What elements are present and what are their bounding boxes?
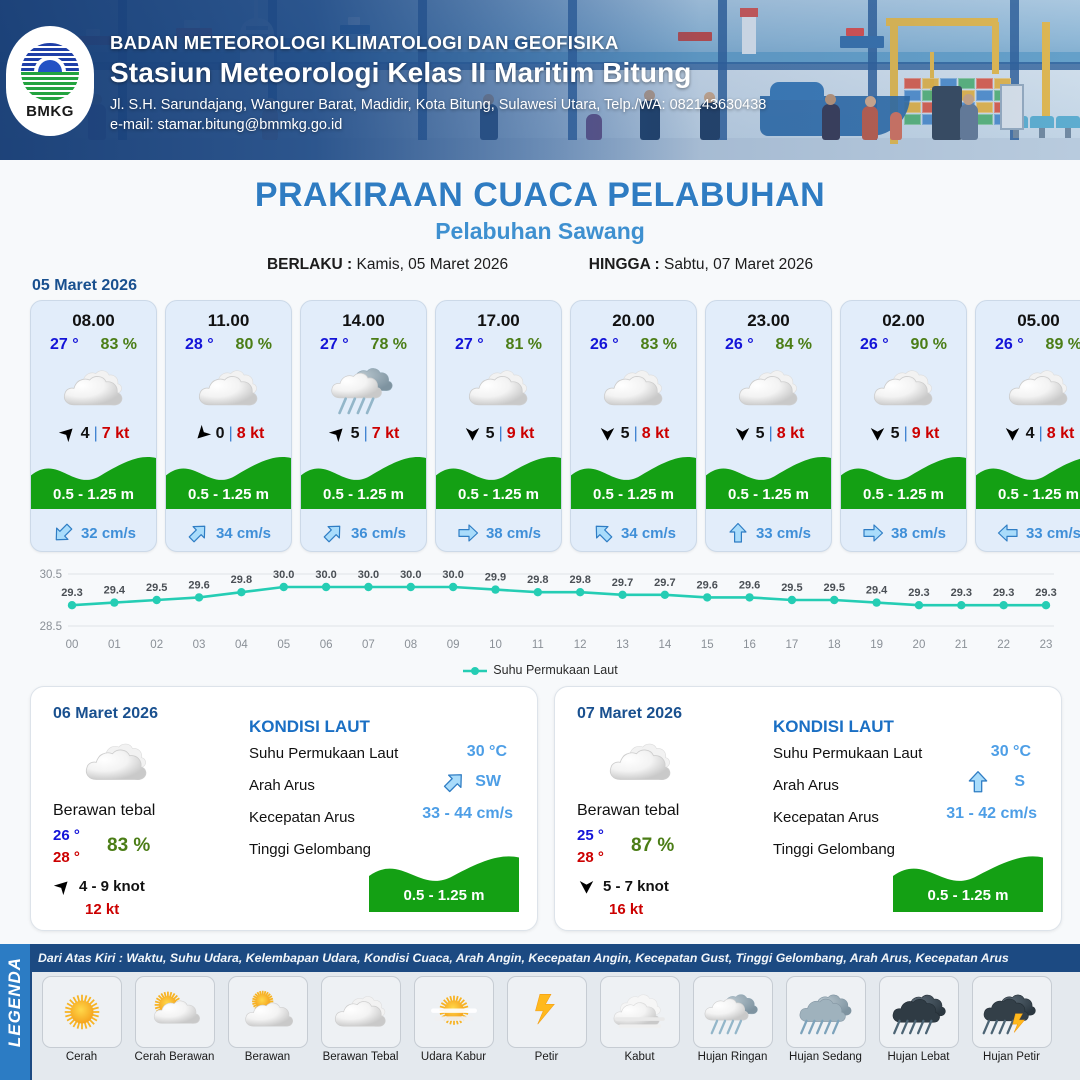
chart-x-tick: 23: [1040, 639, 1053, 651]
chart-y-tick: 28.5: [40, 621, 62, 633]
card-values: 27 °78 %: [301, 336, 426, 354]
panel-wave-band: 0.5 - 1.25 m: [369, 850, 519, 912]
chart-point-label: 29.7: [654, 577, 675, 589]
chart-x-tick: 01: [108, 639, 121, 651]
chart-point-label: 29.5: [146, 582, 167, 594]
card-values: 26 °83 %: [571, 336, 696, 354]
card-current-speed: 33 cm/s: [1026, 525, 1080, 542]
wind-direction-arrow-icon: [733, 424, 752, 443]
card-humidity: 81 %: [506, 336, 542, 354]
card-values: 26 °89 %: [976, 336, 1080, 354]
chart-data-point: [534, 588, 542, 596]
valid-from-label: BERLAKU :: [267, 256, 352, 273]
chart-point-label: 29.9: [485, 572, 506, 584]
chart-data-point: [491, 585, 499, 593]
card-wind-speed: 0: [216, 425, 225, 443]
card-wave-height: 0.5 - 1.25 m: [706, 486, 831, 503]
legend-item: Hujan Lebat: [875, 976, 962, 1063]
card-values: 26 °84 %: [706, 336, 831, 354]
card-separator: |: [364, 425, 368, 443]
chart-point-label: 29.5: [824, 582, 845, 594]
current-direction-arrow-icon: [726, 521, 750, 545]
panel-row-value: 30 °C: [467, 743, 507, 761]
card-wind: 4|7 kt: [31, 424, 156, 443]
card-wave-height: 0.5 - 1.25 m: [436, 486, 561, 503]
card-wave-band: 0.5 - 1.25 m: [301, 451, 426, 509]
chart-point-label: 30.0: [442, 569, 463, 581]
legend-icon-berawan-icon: [228, 976, 308, 1048]
chart-data-point: [1042, 601, 1050, 609]
chart-x-tick: 15: [701, 639, 714, 651]
chart-point-label: 30.0: [400, 569, 421, 581]
panel-condition: Berawan tebal: [577, 802, 679, 820]
card-current: 33 cm/s: [706, 521, 831, 545]
panel-weather-icon-berawan-tebal: [603, 735, 679, 795]
legend-icon-berawan-tebal-icon: [321, 976, 401, 1048]
legend-item-label: Hujan Sedang: [789, 1051, 862, 1063]
panel-sea-title: KONDISI LAUT: [249, 717, 370, 737]
legend-item-label: Udara Kabur: [421, 1051, 486, 1063]
forecast-day-label: 05 Maret 2026: [32, 277, 137, 295]
legend-icon-list: CerahCerah BerawanBerawanBerawan TebalUd…: [38, 976, 1055, 1063]
legend-icon-udara-kabur-icon: [414, 976, 494, 1048]
card-current-speed: 36 cm/s: [351, 525, 406, 542]
card-wave-band: 0.5 - 1.25 m: [706, 451, 831, 509]
panel-sea-title: KONDISI LAUT: [773, 717, 894, 737]
chart-data-point: [661, 591, 669, 599]
card-gust: 8 kt: [642, 425, 670, 443]
legend-icon-cerah-berawan-icon: [135, 976, 215, 1048]
legend-section: LEGENDA Dari Atas Kiri : Waktu, Suhu Uda…: [0, 944, 1080, 1080]
panel-row-label: Suhu Permukaan Laut: [773, 745, 922, 762]
chart-x-tick: 16: [743, 639, 756, 651]
page-subtitle: Pelabuhan Sawang: [0, 218, 1080, 245]
card-wind: 4|8 kt: [976, 424, 1080, 443]
chart-point-label: 29.3: [908, 587, 929, 599]
card-wind: 5|8 kt: [571, 424, 696, 443]
wind-direction-arrow-icon: [328, 424, 347, 443]
wind-direction-arrow-icon: [868, 424, 887, 443]
chart-point-label: 30.0: [273, 569, 294, 581]
card-weather-icon-hujan-ringan: [301, 360, 426, 416]
card-temperature: 26 °: [725, 336, 754, 354]
card-wave-band: 0.5 - 1.25 m: [841, 451, 966, 509]
card-wave-height: 0.5 - 1.25 m: [301, 486, 426, 503]
panel-current-direction-arrow-icon: [441, 769, 467, 800]
card-values: 27 °83 %: [31, 336, 156, 354]
card-gust: 8 kt: [237, 425, 265, 443]
card-time: 08.00: [31, 311, 156, 331]
card-wind: 5|9 kt: [841, 424, 966, 443]
forecast-card: 08.0027 °83 %4|7 kt0.5 - 1.25 m32 cm/s: [30, 300, 157, 552]
chart-point-label: 29.7: [612, 577, 633, 589]
chart-x-tick: 11: [532, 639, 544, 651]
card-separator: |: [229, 425, 233, 443]
bmkg-logo: BMKG: [6, 26, 94, 136]
wind-direction-arrow-icon: [193, 424, 212, 443]
chart-data-point: [237, 588, 245, 596]
panel-date: 06 Maret 2026: [53, 705, 158, 723]
header-text-block: BADAN METEOROLOGI KLIMATOLOGI DAN GEOFIS…: [110, 32, 766, 133]
card-values: 28 °80 %: [166, 336, 291, 354]
legend-item: Hujan Sedang: [782, 976, 869, 1063]
chart-point-label: 29.5: [781, 582, 802, 594]
legend-icon-kabut-icon: [600, 976, 680, 1048]
card-time: 11.00: [166, 311, 291, 331]
card-current: 38 cm/s: [841, 521, 966, 545]
chart-data-point: [407, 583, 415, 591]
chart-x-tick: 17: [786, 639, 799, 651]
card-time: 05.00: [976, 311, 1080, 331]
chart-x-tick: 12: [574, 639, 587, 651]
validity-range: BERLAKU : Kamis, 05 Maret 2026 HINGGA : …: [0, 256, 1080, 274]
title-block: PRAKIRAAN CUACA PELABUHAN Pelabuhan Sawa…: [0, 176, 1080, 274]
card-separator: |: [634, 425, 638, 443]
chart-x-tick: 06: [320, 639, 333, 651]
panel-humidity: 87 %: [631, 835, 674, 857]
panel-current-direction-arrow-icon: [965, 769, 991, 800]
panel-row-label: Tinggi Gelombang: [773, 841, 895, 858]
card-current-speed: 38 cm/s: [891, 525, 946, 542]
wind-direction-arrow-icon: [58, 424, 77, 443]
hourly-forecast-row: 08.0027 °83 %4|7 kt0.5 - 1.25 m32 cm/s11…: [30, 300, 1080, 552]
current-direction-arrow-icon: [861, 521, 885, 545]
card-weather-icon-berawan-tebal: [706, 360, 831, 416]
forecast-card: 20.0026 °83 %5|8 kt0.5 - 1.25 m34 cm/s: [570, 300, 697, 552]
card-wind-speed: 4: [81, 425, 90, 443]
chart-data-point: [745, 593, 753, 601]
current-direction-arrow-icon: [996, 521, 1020, 545]
page-header: BMKG BADAN METEOROLOGI KLIMATOLOGI DAN G…: [0, 0, 1080, 160]
card-humidity: 83 %: [641, 336, 677, 354]
card-temperature: 26 °: [995, 336, 1024, 354]
chart-series-line: [72, 587, 1046, 605]
chart-data-point: [449, 583, 457, 591]
card-separator: |: [499, 425, 503, 443]
card-gust: 8 kt: [1047, 425, 1075, 443]
legend-item: Udara Kabur: [410, 976, 497, 1063]
panel-gust: 12 kt: [85, 901, 119, 918]
wind-direction-arrow-icon: [1003, 424, 1022, 443]
legend-item-label: Berawan Tebal: [323, 1051, 399, 1063]
chart-x-tick: 13: [616, 639, 629, 651]
card-time: 14.00: [301, 311, 426, 331]
legend-item-label: Hujan Lebat: [887, 1051, 949, 1063]
legend-item-label: Kabut: [624, 1051, 654, 1063]
forecast-card: 11.0028 °80 %0|8 kt0.5 - 1.25 m34 cm/s: [165, 300, 292, 552]
card-current: 36 cm/s: [301, 521, 426, 545]
legend-icon-hujan-petir-icon: [972, 976, 1052, 1048]
card-wind-speed: 5: [351, 425, 360, 443]
legend-item: Kabut: [596, 976, 683, 1063]
card-wind: 5|7 kt: [301, 424, 426, 443]
card-time: 20.00: [571, 311, 696, 331]
card-wave-band: 0.5 - 1.25 m: [31, 451, 156, 509]
sst-chart: 30.528.529.30029.40129.50229.60329.80430…: [0, 560, 1080, 680]
legend-item: Berawan: [224, 976, 311, 1063]
card-time: 02.00: [841, 311, 966, 331]
card-weather-icon-berawan-tebal: [841, 360, 966, 416]
card-wind-speed: 5: [891, 425, 900, 443]
chart-x-tick: 00: [66, 639, 79, 651]
chart-x-tick: 02: [150, 639, 163, 651]
forecast-card: 14.0027 °78 %5|7 kt0.5 - 1.25 m36 cm/s: [300, 300, 427, 552]
chart-point-label: 29.6: [188, 579, 209, 591]
chart-x-tick: 09: [447, 639, 460, 651]
card-values: 27 °81 %: [436, 336, 561, 354]
card-humidity: 89 %: [1046, 336, 1080, 354]
chart-point-label: 29.8: [569, 574, 590, 586]
daily-summary-row: 06 Maret 2026Berawan tebal26 °28 °83 %4 …: [30, 686, 1062, 931]
card-humidity: 78 %: [371, 336, 407, 354]
current-direction-arrow-icon: [456, 521, 480, 545]
forecast-card: 17.0027 °81 %5|9 kt0.5 - 1.25 m38 cm/s: [435, 300, 562, 552]
panel-row-value: SW: [475, 773, 501, 791]
chart-y-tick: 30.5: [40, 569, 62, 581]
card-wind: 5|9 kt: [436, 424, 561, 443]
legend-icon-hujan-ringan-icon: [693, 976, 773, 1048]
chart-point-label: 29.4: [866, 585, 888, 597]
card-humidity: 80 %: [236, 336, 272, 354]
wind-direction-arrow-icon: [598, 424, 617, 443]
panel-wave-band: 0.5 - 1.25 m: [893, 850, 1043, 912]
chart-data-point: [280, 583, 288, 591]
chart-x-tick: 07: [362, 639, 375, 651]
legend-item: Hujan Petir: [968, 976, 1055, 1063]
chart-x-tick: 03: [193, 639, 206, 651]
chart-point-label: 29.4: [104, 585, 126, 597]
chart-x-tick: 04: [235, 639, 248, 651]
agency-name: BADAN METEOROLOGI KLIMATOLOGI DAN GEOFIS…: [110, 32, 766, 54]
card-temperature: 26 °: [590, 336, 619, 354]
card-separator: |: [769, 425, 773, 443]
chart-data-point: [364, 583, 372, 591]
card-current-speed: 38 cm/s: [486, 525, 541, 542]
legend-side-tab: LEGENDA: [0, 944, 30, 1080]
chart-point-label: 29.8: [527, 574, 548, 586]
legend-item: Berawan Tebal: [317, 976, 404, 1063]
card-time: 23.00: [706, 311, 831, 331]
card-wave-band: 0.5 - 1.25 m: [436, 451, 561, 509]
legend-icon-hujan-lebat-icon: [879, 976, 959, 1048]
legend-item-label: Hujan Petir: [983, 1051, 1040, 1063]
current-direction-arrow-icon: [186, 521, 210, 545]
bmkg-logo-text: BMKG: [26, 103, 74, 120]
panel-wind: 5 - 7 knot: [577, 877, 669, 896]
card-current-speed: 33 cm/s: [756, 525, 811, 542]
panel-temp-min: 25 °: [577, 827, 604, 844]
chart-point-label: 29.6: [697, 579, 718, 591]
card-temperature: 28 °: [185, 336, 214, 354]
chart-x-tick: 22: [997, 639, 1010, 651]
card-weather-icon-berawan-tebal: [976, 360, 1080, 416]
card-separator: |: [904, 425, 908, 443]
legend-item-label: Cerah: [66, 1051, 97, 1063]
card-temperature: 27 °: [455, 336, 484, 354]
valid-from-value: Kamis, 05 Maret 2026: [357, 256, 509, 273]
card-gust: 9 kt: [912, 425, 940, 443]
panel-temp-max: 28 °: [53, 849, 80, 866]
forecast-card: 05.0026 °89 %4|8 kt0.5 - 1.25 m33 cm/s: [975, 300, 1080, 552]
panel-wind-range: 5 - 7 knot: [603, 878, 669, 895]
card-current-speed: 34 cm/s: [621, 525, 676, 542]
card-humidity: 90 %: [911, 336, 947, 354]
bmkg-logo-mark: [21, 43, 79, 101]
chart-point-label: 29.6: [739, 579, 760, 591]
chart-x-tick: 10: [489, 639, 502, 651]
panel-row-label: Kecepatan Arus: [773, 809, 879, 826]
forecast-card: 02.0026 °90 %5|9 kt0.5 - 1.25 m38 cm/s: [840, 300, 967, 552]
chart-point-label: 29.8: [231, 574, 252, 586]
card-weather-icon-berawan-tebal: [436, 360, 561, 416]
chart-x-tick: 05: [277, 639, 290, 651]
chart-data-point: [152, 596, 160, 604]
panel-wind-range: 4 - 9 knot: [79, 878, 145, 895]
chart-data-point: [618, 591, 626, 599]
chart-data-point: [322, 583, 330, 591]
card-gust: 7 kt: [102, 425, 130, 443]
legend-item-label: Petir: [535, 1051, 559, 1063]
chart-x-tick: 18: [828, 639, 841, 651]
card-wave-band: 0.5 - 1.25 m: [976, 451, 1080, 509]
valid-to-value: Sabtu, 07 Maret 2026: [664, 256, 813, 273]
card-humidity: 84 %: [776, 336, 812, 354]
legend-item-label: Hujan Ringan: [698, 1051, 768, 1063]
panel-row-value: 31 - 42 cm/s: [946, 805, 1037, 823]
legend-item: Cerah Berawan: [131, 976, 218, 1063]
station-email: e-mail: stamar.bitung@bmmkg.go.id: [110, 117, 766, 133]
card-current: 34 cm/s: [571, 521, 696, 545]
card-temperature: 26 °: [860, 336, 889, 354]
chart-data-point: [110, 598, 118, 606]
panel-row-value: S: [1014, 773, 1025, 791]
chart-data-point: [68, 601, 76, 609]
panel-condition: Berawan tebal: [53, 802, 155, 820]
chart-data-point: [957, 601, 965, 609]
daily-summary-panel: 06 Maret 2026Berawan tebal26 °28 °83 %4 …: [30, 686, 538, 931]
forecast-card: 23.0026 °84 %5|8 kt0.5 - 1.25 m33 cm/s: [705, 300, 832, 552]
chart-x-tick: 21: [955, 639, 968, 651]
card-time: 17.00: [436, 311, 561, 331]
panel-wave-height: 0.5 - 1.25 m: [369, 887, 519, 904]
panel-weather-icon-berawan-tebal: [79, 735, 155, 795]
card-wave-height: 0.5 - 1.25 m: [166, 486, 291, 503]
chart-data-point: [915, 601, 923, 609]
chart-data-point: [576, 588, 584, 596]
wind-direction-arrow-icon: [53, 877, 72, 896]
chart-x-tick: 20: [913, 639, 926, 651]
card-current-speed: 32 cm/s: [81, 525, 136, 542]
chart-legend: Suhu Permukaan Laut: [0, 663, 1080, 677]
card-separator: |: [1039, 425, 1043, 443]
chart-point-label: 29.3: [1035, 587, 1056, 599]
card-wind: 0|8 kt: [166, 424, 291, 443]
card-weather-icon-berawan-tebal: [166, 360, 291, 416]
wind-direction-arrow-icon: [463, 424, 482, 443]
panel-row-value: 33 - 44 cm/s: [422, 805, 513, 823]
current-direction-arrow-icon: [51, 521, 75, 545]
page-title: PRAKIRAAN CUACA PELABUHAN: [0, 176, 1080, 215]
panel-temp-max: 28 °: [577, 849, 604, 866]
chart-data-point: [195, 593, 203, 601]
card-wave-height: 0.5 - 1.25 m: [571, 486, 696, 503]
station-name: Stasiun Meteorologi Kelas II Maritim Bit…: [110, 57, 766, 89]
panel-row-label: Arah Arus: [773, 777, 839, 794]
panel-date: 07 Maret 2026: [577, 705, 682, 723]
card-gust: 7 kt: [372, 425, 400, 443]
card-wind: 5|8 kt: [706, 424, 831, 443]
card-separator: |: [94, 425, 98, 443]
station-address: Jl. S.H. Sarundajang, Wangurer Barat, Ma…: [110, 97, 766, 113]
card-wave-height: 0.5 - 1.25 m: [976, 486, 1080, 503]
panel-gust: 16 kt: [609, 901, 643, 918]
chart-point-label: 30.0: [358, 569, 379, 581]
chart-x-tick: 19: [870, 639, 883, 651]
card-wind-speed: 5: [621, 425, 630, 443]
chart-data-point: [830, 596, 838, 604]
card-current: 32 cm/s: [31, 521, 156, 545]
valid-to-label: HINGGA :: [589, 256, 660, 273]
panel-row-value: 30 °C: [991, 743, 1031, 761]
chart-point-label: 29.3: [61, 587, 82, 599]
card-wave-band: 0.5 - 1.25 m: [166, 451, 291, 509]
chart-x-tick: 14: [658, 639, 671, 651]
card-wind-speed: 5: [756, 425, 765, 443]
wind-direction-arrow-icon: [577, 877, 596, 896]
legend-item: Hujan Ringan: [689, 976, 776, 1063]
panel-row-label: Tinggi Gelombang: [249, 841, 371, 858]
card-wind-speed: 5: [486, 425, 495, 443]
chart-point-label: 29.3: [951, 587, 972, 599]
legend-item-label: Cerah Berawan: [135, 1051, 215, 1063]
card-current: 38 cm/s: [436, 521, 561, 545]
current-direction-arrow-icon: [321, 521, 345, 545]
legend-side-title: LEGENDA: [5, 950, 25, 1054]
card-current-speed: 34 cm/s: [216, 525, 271, 542]
card-wave-height: 0.5 - 1.25 m: [841, 486, 966, 503]
legend-item-label: Berawan: [245, 1051, 290, 1063]
card-weather-icon-berawan-tebal: [31, 360, 156, 416]
legend-line-marker: [462, 665, 488, 677]
panel-row-label: Suhu Permukaan Laut: [249, 745, 398, 762]
chart-data-point: [872, 598, 880, 606]
chart-data-point: [703, 593, 711, 601]
panel-humidity: 83 %: [107, 835, 150, 857]
chart-x-tick: 08: [404, 639, 417, 651]
chart-point-label: 30.0: [315, 569, 336, 581]
daily-summary-panel: 07 Maret 2026Berawan tebal25 °28 °87 %5 …: [554, 686, 1062, 931]
chart-data-point: [999, 601, 1007, 609]
card-gust: 9 kt: [507, 425, 535, 443]
panel-row-label: Kecepatan Arus: [249, 809, 355, 826]
card-wave-height: 0.5 - 1.25 m: [31, 486, 156, 503]
card-current: 34 cm/s: [166, 521, 291, 545]
legend-item: Petir: [503, 976, 590, 1063]
panel-wind: 4 - 9 knot: [53, 877, 145, 896]
chart-point-label: 29.3: [993, 587, 1014, 599]
card-current: 33 cm/s: [976, 521, 1080, 545]
legend-note: Dari Atas Kiri : Waktu, Suhu Udara, Kele…: [38, 951, 1009, 965]
card-temperature: 27 °: [50, 336, 79, 354]
legend-series-label: Suhu Permukaan Laut: [493, 663, 617, 677]
card-humidity: 83 %: [101, 336, 137, 354]
legend-icon-petir-icon: [507, 976, 587, 1048]
legend-icon-cerah-icon: [42, 976, 122, 1048]
card-values: 26 °90 %: [841, 336, 966, 354]
panel-wave-height: 0.5 - 1.25 m: [893, 887, 1043, 904]
legend-item: Cerah: [38, 976, 125, 1063]
card-gust: 8 kt: [777, 425, 805, 443]
